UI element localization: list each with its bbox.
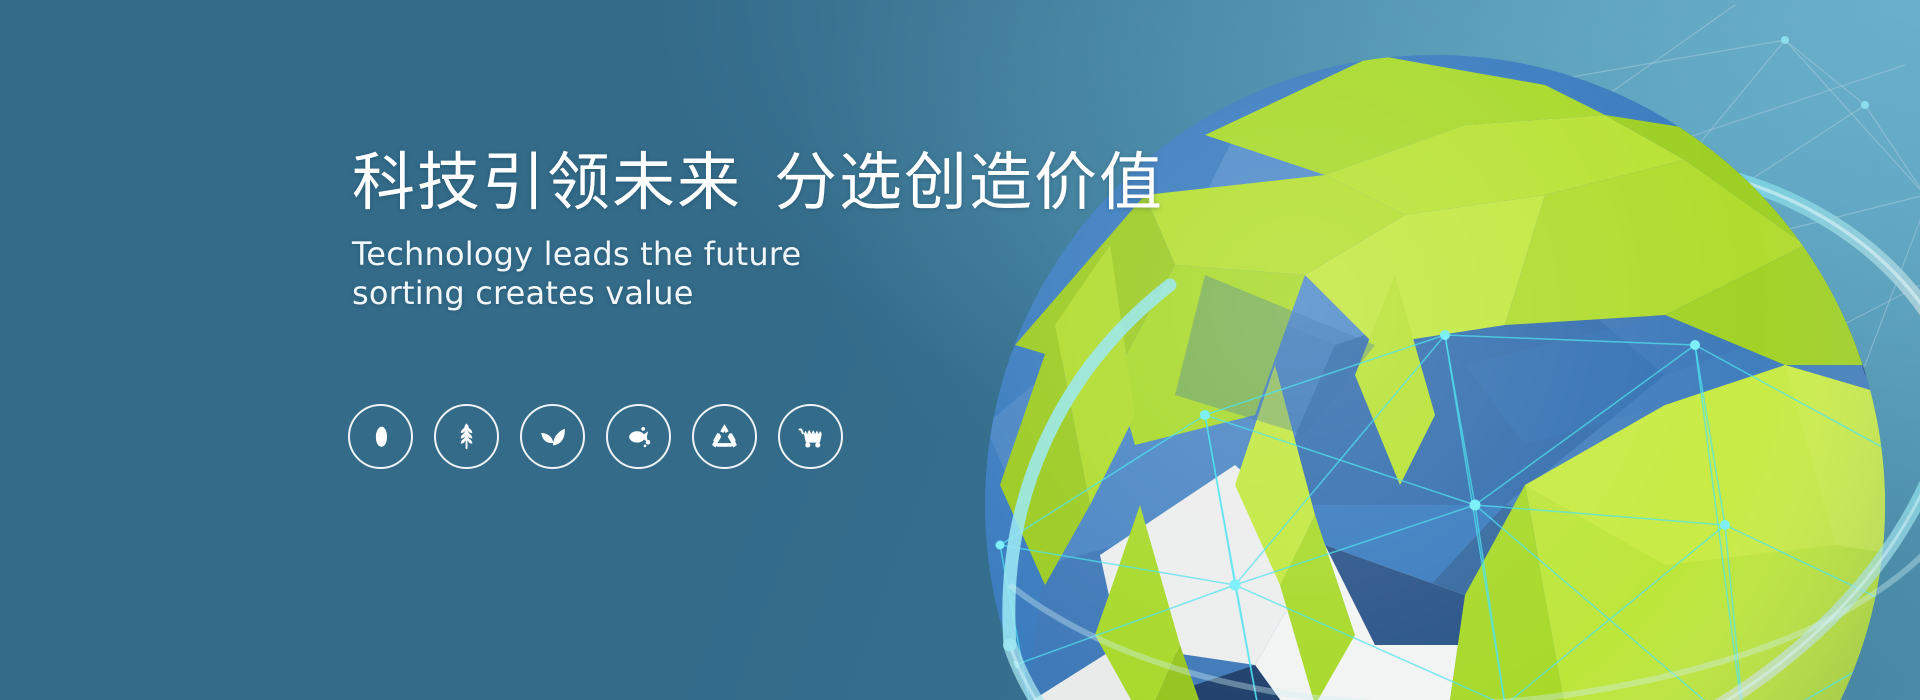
- subtitle-line-1: Technology leads the future: [352, 235, 1092, 274]
- headline-part-1: 科技引领未来: [352, 146, 742, 219]
- leaf-icon: [537, 421, 569, 453]
- fish-icon: [623, 421, 655, 453]
- globe-depth-facets: [1175, 275, 1920, 700]
- industry-badge-leaf[interactable]: [520, 404, 585, 469]
- globe-equator-band: [1010, 505, 1920, 700]
- industry-badge-recycle[interactable]: [692, 404, 757, 469]
- network-node-back: [1082, 36, 1920, 700]
- globe-ice-facets: [1015, 465, 1785, 700]
- globe-land-spikes: [1000, 245, 1435, 700]
- globe-land-facets-green-2: [1445, 365, 1920, 700]
- orbital-ring-front: [1009, 285, 1920, 700]
- industry-badge-wheat[interactable]: [434, 404, 499, 469]
- wheat-icon: [451, 421, 482, 452]
- network-mesh-back: [1045, 5, 1920, 700]
- ore-cart-icon: [795, 421, 827, 453]
- low-poly-globe-graphic: [905, 0, 1920, 700]
- hero-copy: 科技引领未来分选创造价值 Technology leads the future…: [352, 150, 1092, 313]
- hero-banner: 科技引领未来分选创造价值 Technology leads the future…: [0, 0, 1920, 700]
- page-subtitle: Technology leads the future sorting crea…: [352, 235, 1092, 313]
- page-title: 科技引领未来分选创造价值: [352, 150, 1092, 217]
- globe-sphere: [965, 35, 1920, 700]
- industry-badge-fish[interactable]: [606, 404, 671, 469]
- industry-icon-row: [348, 404, 843, 469]
- seed-icon: [366, 422, 396, 452]
- network-node-front: [996, 330, 1920, 700]
- recycle-icon: [709, 421, 740, 452]
- industry-badge-ore-cart[interactable]: [778, 404, 843, 469]
- globe-land-facets-green: [1015, 55, 1920, 445]
- industry-badge-seed[interactable]: [348, 404, 413, 469]
- headline-part-2: 分选创造价值: [774, 146, 1164, 219]
- orbital-ring-back: [1055, 160, 1920, 645]
- subtitle-line-2: sorting creates value: [352, 274, 1092, 313]
- network-mesh-front: [1000, 335, 1920, 700]
